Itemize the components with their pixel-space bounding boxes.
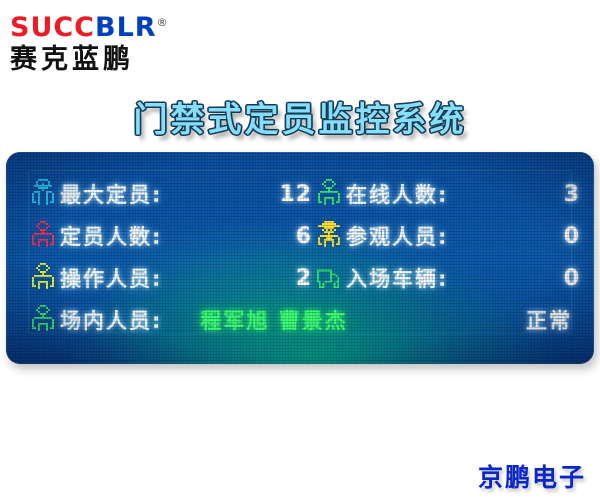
onsite-personnel-names: 程军旭 曹景杰 (162, 305, 484, 335)
company-logo: SUCCBLR® 赛克蓝鹏 (10, 8, 220, 76)
led-display-panel: 最大定员: 12 (6, 152, 594, 364)
page-title: 门禁式定员监控系统 (0, 92, 600, 141)
stat-value: 0 (522, 266, 580, 291)
logo-text-succ: SUCC (10, 12, 95, 43)
stat-label: 场内人员: (60, 305, 162, 335)
stat-value: 3 (522, 182, 580, 207)
stat-max-capacity: 最大定员: 12 (26, 179, 312, 209)
stat-label: 入场车辆: (346, 263, 522, 293)
footer-company-logo: 京鹏电子 (478, 458, 586, 494)
person-helmet-icon (26, 179, 60, 209)
person-icon (26, 221, 60, 251)
stat-label: 最大定员: (60, 179, 254, 209)
person-icon (312, 179, 346, 209)
company-logo-latin: SUCCBLR® (10, 8, 220, 43)
stat-assigned-capacity: 定员人数: 6 (26, 221, 312, 251)
truck-icon (312, 266, 346, 290)
person-visitor-hat-icon (312, 221, 346, 251)
person-icon (26, 263, 60, 293)
stat-value: 0 (522, 224, 580, 249)
stat-value: 2 (254, 266, 312, 291)
led-row: 操作人员: 2 (26, 260, 580, 296)
logo-text-blr: BLR (95, 12, 157, 43)
led-row-onsite: 场内人员: 程军旭 曹景杰 正常 (26, 302, 580, 338)
company-logo-chinese: 赛克蓝鹏 (10, 44, 220, 76)
stat-label: 参观人员: (346, 221, 522, 251)
status-badge: 正常 (484, 305, 580, 335)
stat-onsite-personnel: 场内人员: 程军旭 曹景杰 正常 (26, 305, 580, 335)
stat-label: 定员人数: (60, 221, 254, 251)
stat-online-count: 在线人数: 3 (312, 179, 580, 209)
registered-trademark-icon: ® (157, 16, 168, 29)
led-row: 最大定员: 12 (26, 176, 580, 212)
stat-visitor-count: 参观人员: 0 (312, 221, 580, 251)
stat-operator-count: 操作人员: 2 (26, 263, 312, 293)
led-row: 定员人数: 6 (26, 218, 580, 254)
stat-value: 6 (254, 224, 312, 249)
stat-label: 操作人员: (60, 263, 254, 293)
stat-label: 在线人数: (346, 179, 522, 209)
stat-vehicle-count: 入场车辆: 0 (312, 263, 580, 293)
screenshot-root: SUCCBLR® 赛克蓝鹏 门禁式定员监控系统 (0, 0, 600, 500)
led-content: 最大定员: 12 (6, 152, 594, 364)
person-icon (26, 305, 60, 335)
stat-value: 12 (254, 182, 312, 207)
